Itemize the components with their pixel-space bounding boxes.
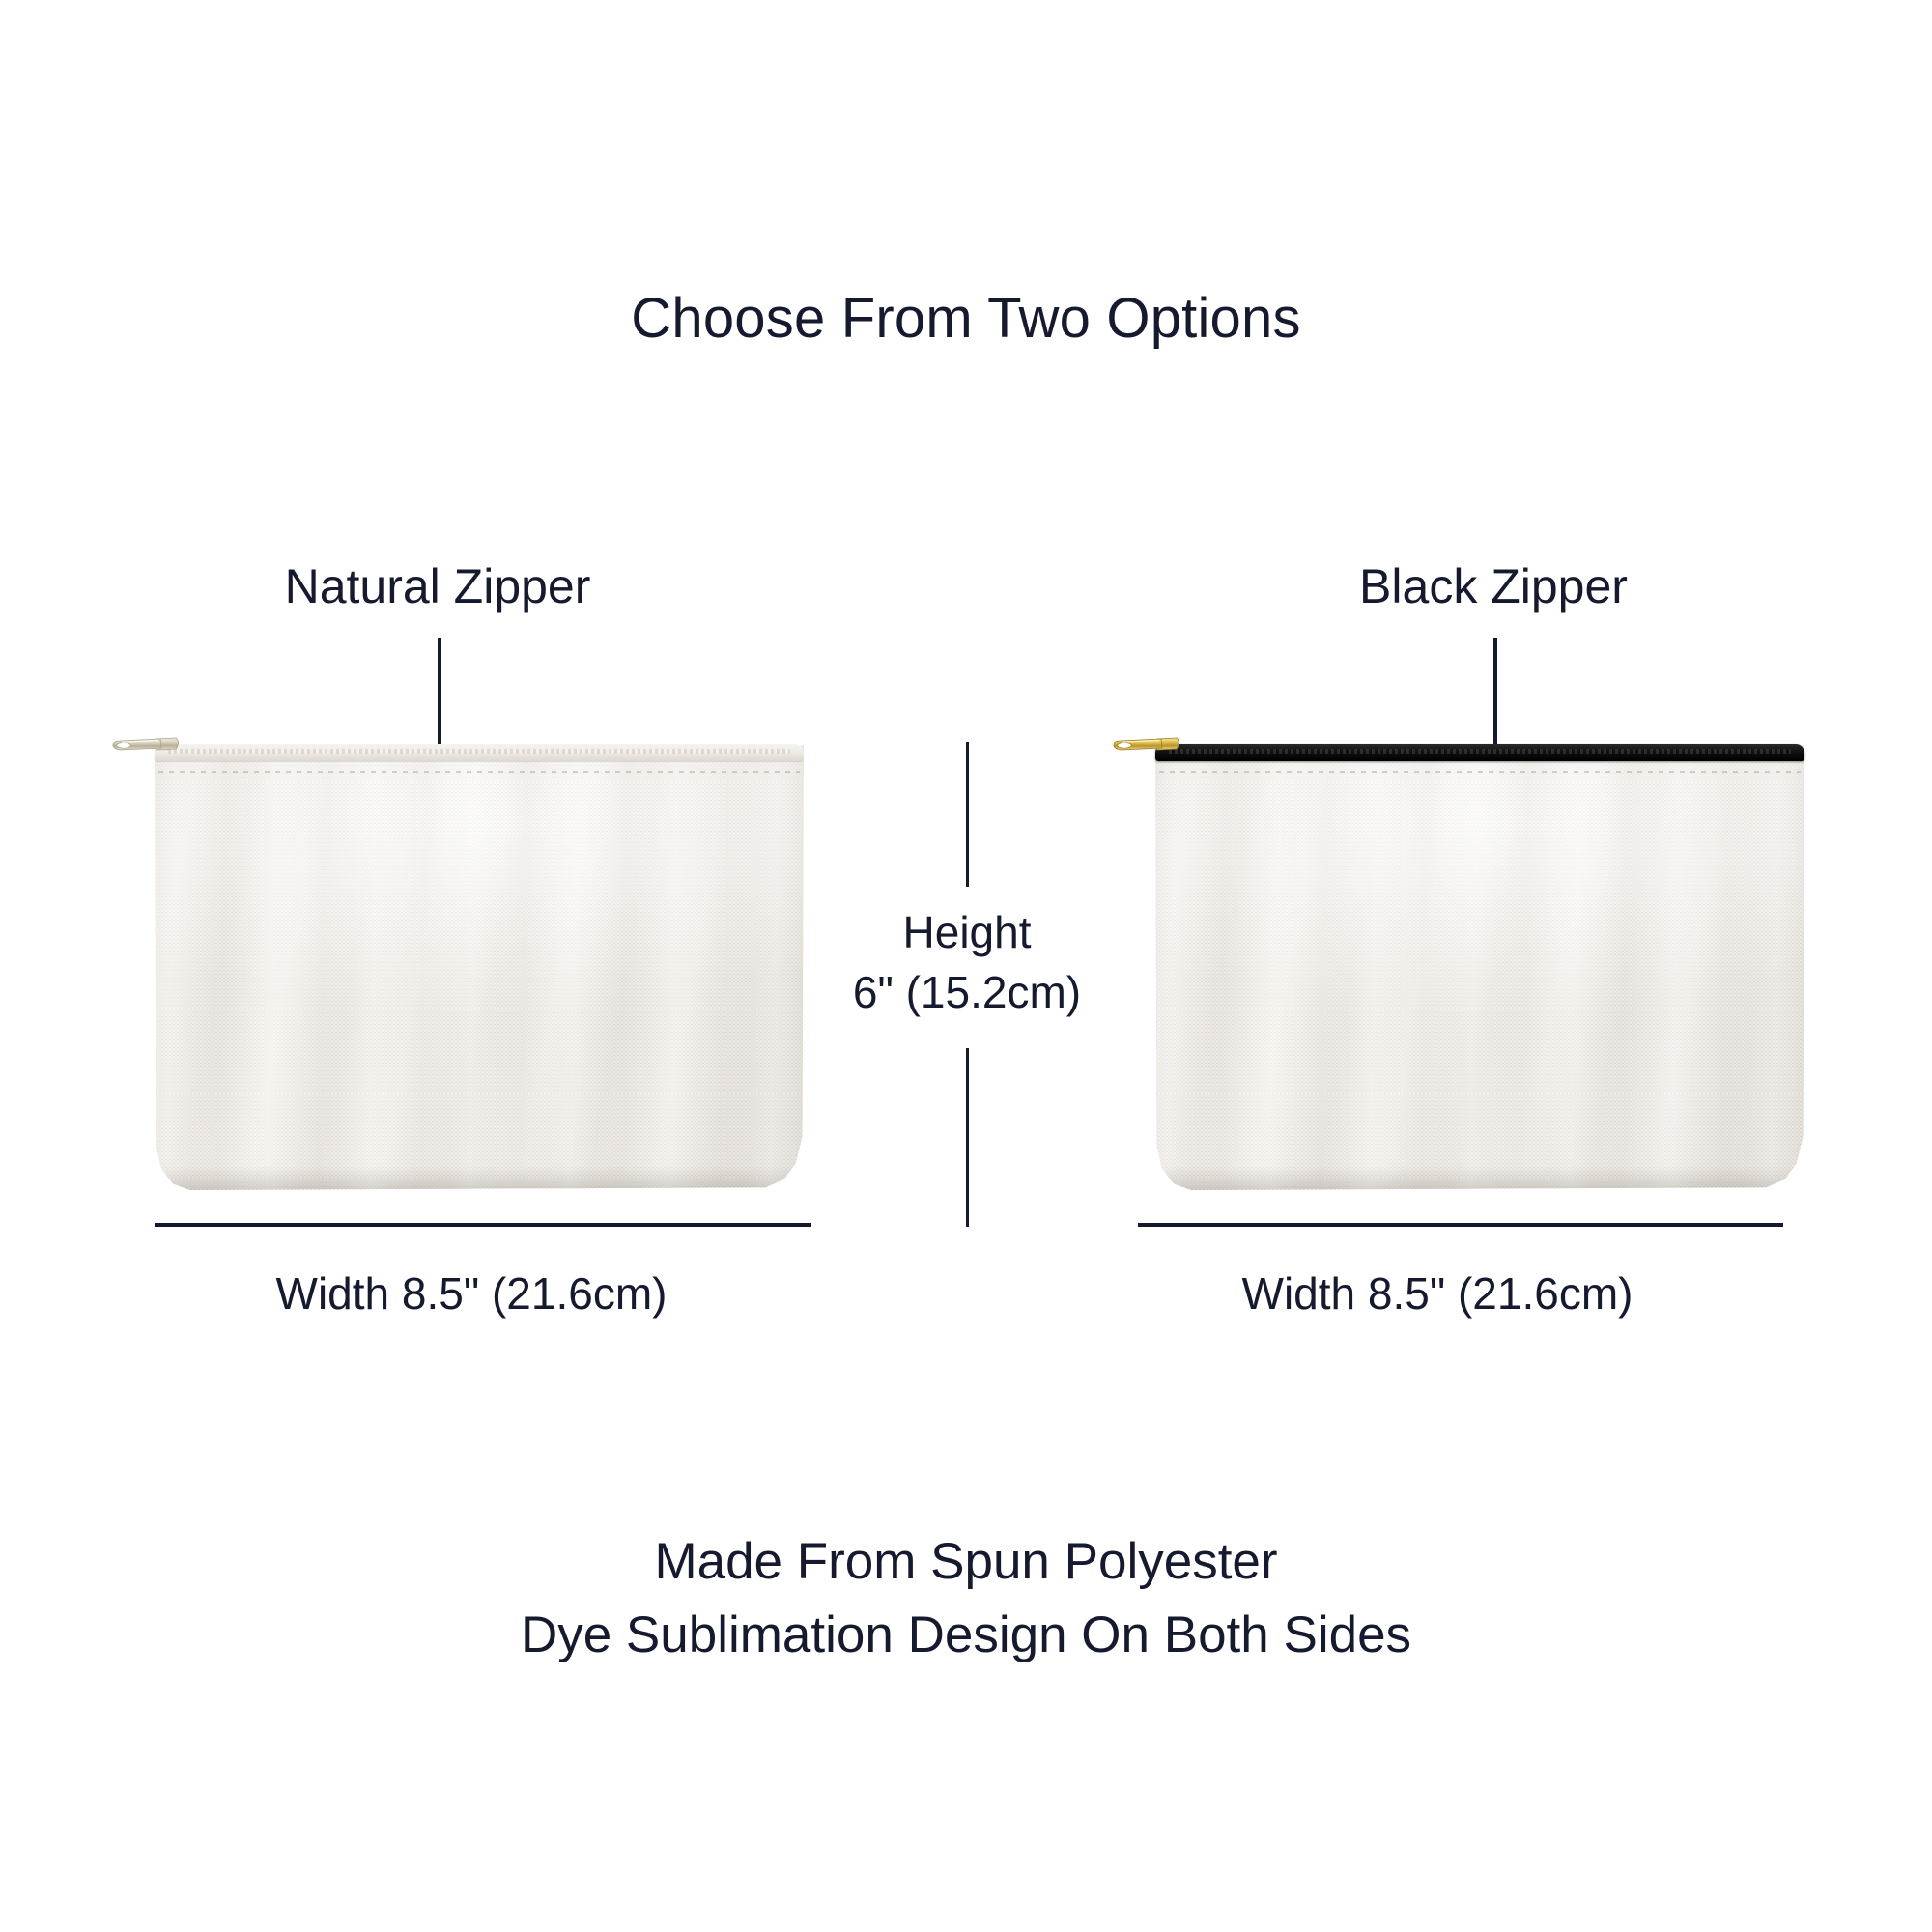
- option-label-natural-zipper: Natural Zipper: [148, 558, 727, 614]
- bottom-shadow-black: [1165, 1165, 1796, 1190]
- width-label-right: Width 8.5" (21.6cm): [1148, 1267, 1727, 1320]
- pouch-body-black: [1151, 744, 1808, 1190]
- option-label-black-zipper: Black Zipper: [1204, 558, 1783, 614]
- width-rule-left: [155, 1223, 811, 1227]
- bottom-shadow-natural: [164, 1165, 795, 1190]
- zipper-teeth-black: [1169, 749, 1792, 754]
- fabric-texture-natural: [151, 744, 808, 1190]
- pouch-image-natural-zipper: [151, 744, 808, 1190]
- leader-line-black-zipper: [1493, 638, 1497, 752]
- zipper-tape-natural: [155, 744, 804, 761]
- footer-print-text: Dye Sublimation Design On Both Sides: [0, 1605, 1932, 1664]
- zipper-teeth-natural: [168, 749, 791, 754]
- width-label-left: Width 8.5" (21.6cm): [182, 1267, 761, 1320]
- top-seam-natural: [158, 771, 800, 773]
- zipper-pull-icon: [110, 728, 182, 761]
- fabric-texture-black: [1151, 744, 1808, 1190]
- top-seam-black: [1159, 771, 1801, 773]
- pouch-image-black-zipper: [1151, 744, 1808, 1190]
- height-rule-lower: [966, 1048, 969, 1227]
- page-title: Choose From Two Options: [0, 286, 1932, 351]
- footer-material-text: Made From Spun Polyester: [0, 1532, 1932, 1591]
- fabric-folds-natural: [151, 744, 808, 1190]
- height-value: 6" (15.2cm): [774, 966, 1160, 1018]
- product-infographic: Choose From Two Options Natural Zipper: [0, 0, 1932, 1932]
- zipper-tape-black: [1155, 744, 1804, 761]
- leader-line-natural-zipper: [438, 638, 441, 753]
- width-rule-right: [1138, 1223, 1783, 1227]
- pouch-body-natural: [151, 744, 808, 1190]
- height-label: Height: [774, 906, 1160, 958]
- fabric-folds-black: [1151, 744, 1808, 1190]
- height-rule-upper: [966, 742, 969, 887]
- zipper-pull-icon: [1111, 728, 1182, 761]
